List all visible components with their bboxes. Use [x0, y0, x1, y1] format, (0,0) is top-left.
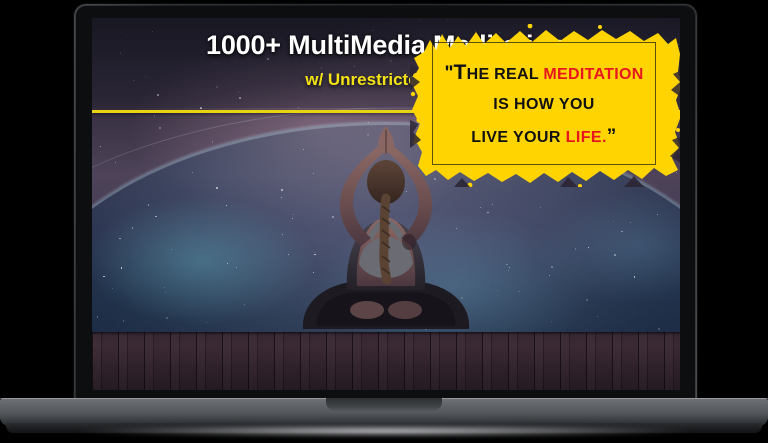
quote-line3-highlight: LIFE [566, 129, 602, 146]
laptop-base-notch [326, 398, 442, 411]
wooden-deck [92, 332, 680, 390]
laptop-screen: 1000+ MultiMedia Meditation w/ Unrestric… [92, 18, 680, 390]
quote-line3-plain: LIVE YOUR [471, 129, 565, 146]
quote-line1-cap: T [453, 61, 466, 84]
quote-line-2: IS HOW YOU [432, 97, 656, 113]
quote-line1-highlight: MEDITATION [543, 66, 643, 83]
quote-line-1: "THE REAL MEDITATION [432, 62, 656, 83]
quote-card: "THE REAL MEDITATION IS HOW YOU LIVE YOU… [410, 24, 680, 187]
quote-line-3: LIVE YOUR LIFE.” [432, 127, 656, 146]
laptop-drop-shadow [74, 425, 694, 437]
quote-text-block: "THE REAL MEDITATION IS HOW YOU LIVE YOU… [432, 42, 656, 165]
quote-line1-rest: HE REAL [467, 66, 544, 83]
quote-close-mark: ” [607, 126, 617, 147]
laptop-base [0, 398, 768, 426]
mockup-stage: 1000+ MultiMedia Meditation w/ Unrestric… [0, 0, 768, 443]
